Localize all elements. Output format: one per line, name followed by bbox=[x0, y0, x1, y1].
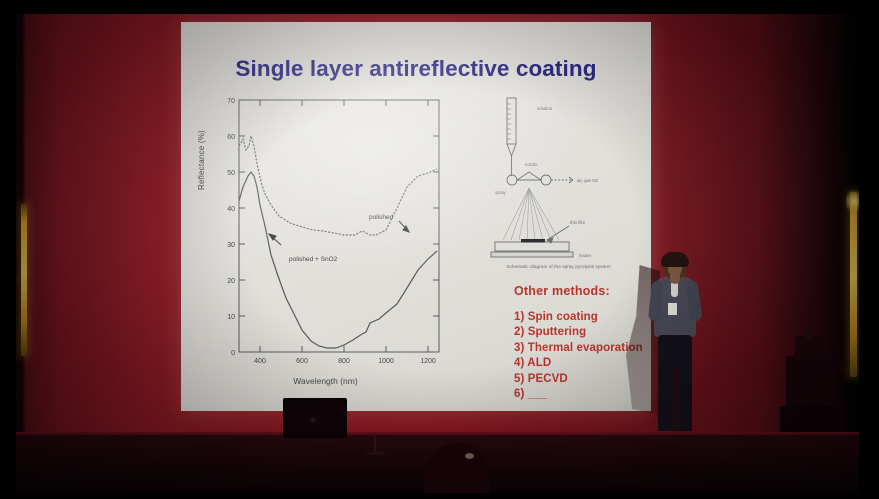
auditorium-scene: Single layer antireflective coating Refl… bbox=[0, 0, 879, 499]
letterbox-left bbox=[0, 0, 16, 499]
letterbox-bottom bbox=[0, 493, 879, 499]
vignette-overlay bbox=[0, 0, 879, 499]
letterbox-right bbox=[859, 0, 879, 499]
letterbox-top bbox=[0, 0, 879, 14]
